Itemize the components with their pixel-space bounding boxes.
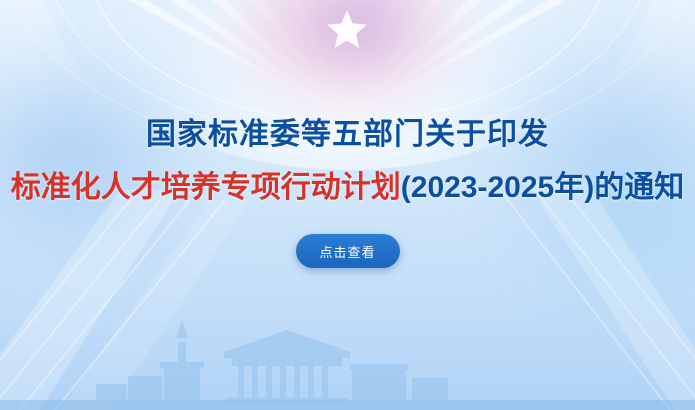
promo-banner: 国家标准委等五部门关于印发 标准化人才培养专项行动计划(2023-2025年)的… [0,0,695,410]
banner-title-suffix: (2023-2025年)的通知 [401,171,684,204]
banner-content: 国家标准委等五部门关于印发 标准化人才培养专项行动计划(2023-2025年)的… [0,0,695,410]
banner-title-line-1: 国家标准委等五部门关于印发 [146,118,549,151]
banner-title-line-2: 标准化人才培养专项行动计划(2023-2025年)的通知 [11,171,684,204]
banner-title-highlight: 标准化人才培养专项行动计划 [11,171,401,204]
view-details-button[interactable]: 点击查看 [296,234,400,268]
